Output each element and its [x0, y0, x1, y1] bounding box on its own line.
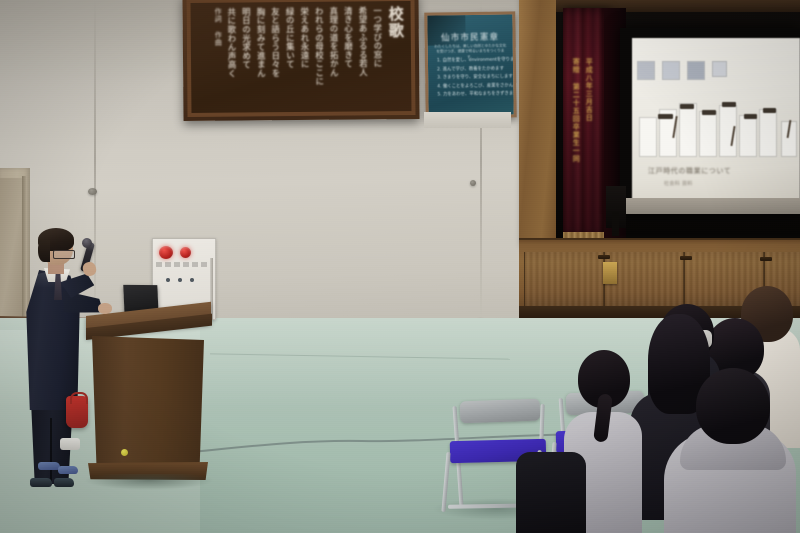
projection-screen: 江戸時代の職業について 社会科 資料	[632, 38, 800, 200]
blue-slipper[interactable]	[58, 466, 78, 474]
panel-handle[interactable]	[680, 256, 692, 260]
presenter-shoe	[54, 478, 74, 487]
slide-bar	[700, 112, 716, 156]
side-door[interactable]	[0, 178, 24, 330]
presenter-hand-right	[98, 303, 112, 314]
slide-subtitle: 社会科 資料	[664, 180, 693, 187]
panel-handle[interactable]	[598, 255, 610, 259]
slide-chart-row	[636, 90, 796, 156]
audience-head	[696, 368, 770, 444]
slide-thumbnails	[638, 62, 792, 84]
speaker-stand	[612, 212, 619, 236]
presenter-leg-split	[50, 418, 52, 482]
slide-bar	[680, 104, 696, 156]
alarm-button-left[interactable]	[159, 246, 173, 259]
song-verse: 共に歌わん声高く	[226, 8, 236, 108]
door-edge	[22, 176, 27, 330]
stage-panel	[524, 252, 604, 310]
alarm-indicator	[190, 278, 194, 282]
alarm-indicator	[166, 278, 170, 282]
slide-thumbnail	[713, 62, 726, 76]
slide-thumbnail	[688, 62, 704, 79]
podium-shadow	[84, 474, 214, 490]
slide-bar	[640, 118, 656, 156]
banner-item: 5. 力をあわせ、平和なまちをきずきます	[437, 91, 508, 101]
audience-body	[516, 452, 586, 533]
song-verse: 胸に刻みて進まん	[255, 7, 265, 107]
chair-backrest	[460, 399, 541, 424]
slide-bar	[740, 116, 756, 156]
slide-marker	[744, 114, 757, 119]
banner-heading: 仙市市民憲章	[428, 30, 513, 43]
slide-marker	[680, 104, 694, 109]
stage-latch[interactable]	[603, 262, 617, 284]
curtain-inscription-left: 平成八年三月吉日	[583, 58, 595, 122]
floor-object-yellow	[121, 449, 128, 456]
citizens-charter-banner: 仙市市民憲章 わたくしたちは、美しい自然とゆたかな文化を受けつぎ、健康で明るいま…	[424, 11, 516, 118]
glasses-icon	[53, 250, 75, 259]
screen-lower-band	[620, 198, 800, 214]
song-title: 校歌	[386, 6, 404, 106]
song-credit: 作詞 作曲	[213, 8, 222, 108]
song-verse: 清き心を磨きて	[343, 7, 353, 107]
slide-marker	[763, 108, 776, 113]
slide-marker	[658, 114, 673, 119]
slide-thumbnail	[638, 62, 654, 79]
blue-slipper[interactable]	[38, 462, 60, 470]
slide-title: 江戸時代の職業について	[648, 166, 731, 176]
presenter-hair-back	[38, 240, 50, 262]
slide-thumbnail	[663, 62, 679, 79]
school-song-board: 校歌 一つ学びの窓に 希望あふるる若人 清き心を磨きて 真理の道を拓かん われら…	[182, 0, 419, 121]
song-verse: 一つ学びの窓に	[372, 6, 382, 106]
alarm-indicator	[178, 278, 182, 282]
proscenium-frame	[519, 0, 559, 246]
banner-mount	[424, 112, 511, 128]
slide-marker	[722, 102, 736, 107]
bag-strap	[70, 392, 88, 404]
slide-marker	[702, 110, 716, 115]
wall-fixture	[470, 180, 476, 186]
white-shoe	[60, 438, 80, 450]
alarm-button-right[interactable]	[180, 247, 191, 258]
wall-fixture	[88, 188, 97, 195]
board-text-area: 校歌 一つ学びの窓に 希望あふるる若人 清き心を磨きて 真理の道を拓かん われら…	[192, 2, 411, 112]
panel-handle[interactable]	[760, 257, 772, 261]
song-verse: 栄えあれ永遠に	[299, 7, 309, 107]
presenter-shoe	[30, 478, 52, 487]
alarm-label	[156, 262, 210, 267]
song-verse: 明日の光求めて	[241, 7, 251, 107]
podium	[92, 336, 204, 470]
song-verse: 緑の丘に集いて	[284, 7, 294, 107]
song-verse: 友と語らう日々を	[270, 7, 280, 107]
song-verse: 真理の道を拓かん	[328, 7, 338, 107]
banner-items: 1. 自然を愛し、environmentを守ります 2. 進んで学び、教養をたか…	[437, 56, 509, 100]
gymnasium-photo: 校歌 一つ学びの窓に 希望あふるる若人 清き心を磨きて 真理の道を拓かん われら…	[0, 0, 800, 533]
song-verse: 希望あふるる若人	[357, 6, 367, 106]
slide-bar	[760, 110, 776, 156]
curtain-inscription-right: 寄贈 第二十五回卒業生一同	[570, 58, 582, 163]
song-verse: われらの母校ここに	[314, 7, 324, 107]
